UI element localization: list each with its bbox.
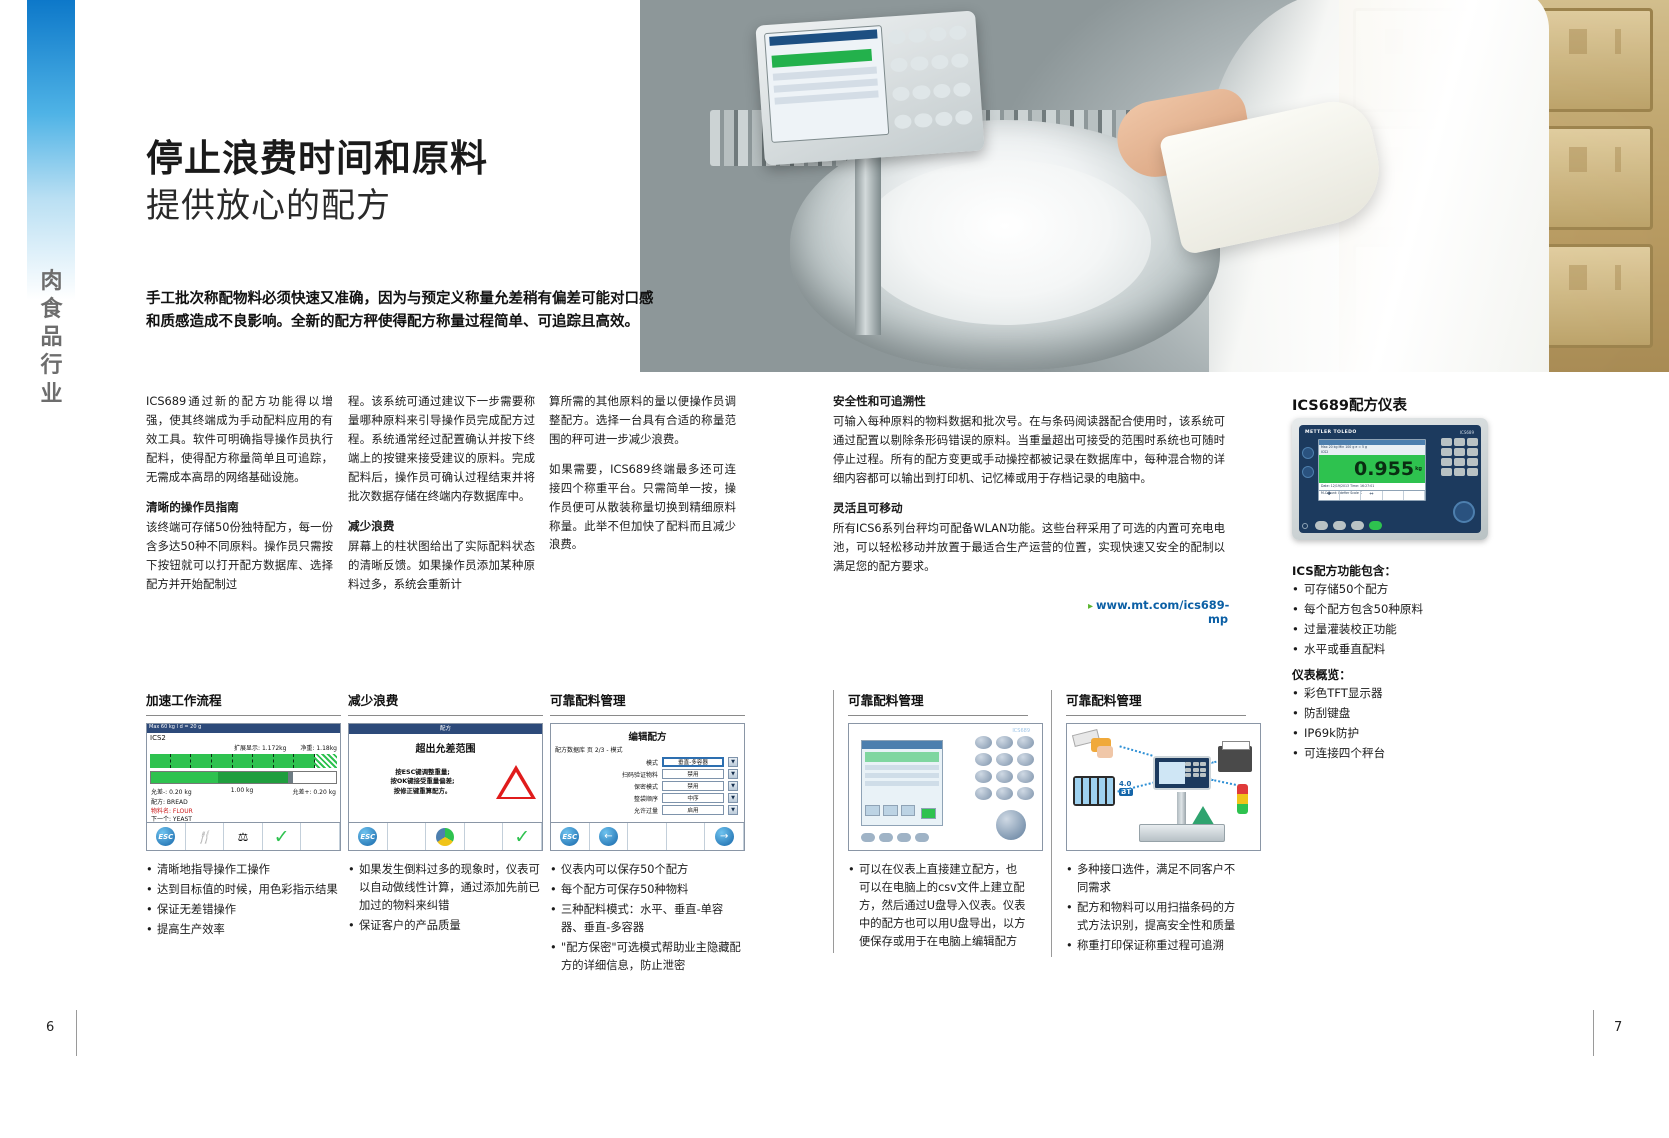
hero-terminal — [755, 10, 984, 165]
setting-label: 保密模式 — [606, 782, 658, 791]
tolerance-minus: 允差-: 0.20 kg — [151, 787, 192, 796]
numeric-keypad — [975, 736, 1034, 800]
ics689-device-photo: METTLER TOLEDO ICS689 Max 20 kg Min 100 … — [1292, 418, 1488, 540]
setting-label: 模式 — [606, 758, 658, 767]
device-model: ICS689 — [1460, 430, 1474, 435]
esc-key[interactable]: ESC — [147, 823, 186, 850]
bench-scale-platform — [1139, 824, 1225, 842]
page-subtitle: 提供放心的配方 — [146, 178, 391, 227]
esc-key[interactable]: ESC — [551, 823, 590, 850]
terminal-screenshot-tolerance-alert: 配方 超出允差范围 按ESC键调整重量; 按OK键接受重量偏差; 按修正键重算配… — [348, 723, 543, 851]
feature-title: 加速工作流程 — [146, 690, 341, 716]
feature-bullets: 可以在仪表上直接建立配方，也可以在电脑上的csv文件上建立配方，然后通过U盘导入… — [848, 861, 1028, 951]
col4-heading-2: 灵活且可移动 — [833, 499, 1225, 518]
list-item: 清晰地指导操作工操作 — [146, 861, 341, 879]
page-number-left: 6 — [46, 1020, 54, 1035]
setting-value[interactable]: 禁用 — [662, 781, 724, 791]
edit-recipe-title: 编辑配方 — [551, 724, 744, 743]
link-arrow-icon: ▸ — [1088, 601, 1093, 612]
tab-char-3: 行 — [34, 352, 70, 380]
edit-recipe-subtitle: 配方数据库 页 2/3 - 模式 — [551, 743, 744, 756]
blank-key[interactable] — [301, 823, 340, 850]
net-weight-label: 净重: 1.18kg — [300, 743, 337, 752]
next-page-icon[interactable]: → — [705, 823, 744, 850]
power-icon — [1302, 523, 1308, 529]
page-title: 停止浪费时间和原料 — [146, 128, 488, 182]
alert-message: 按ESC键调整重量; 按OK键接受重量偏差; 按修正键重算配方。 — [355, 768, 490, 797]
device-left-keys — [1302, 447, 1314, 478]
body-column-1: ICS689通过新的配方功能得以增强，使其终端成为手动配料应用的有效工具。软件可… — [146, 392, 333, 605]
hero-terminal-keypad — [888, 25, 973, 140]
device-brand: METTLER TOLEDO — [861, 728, 911, 734]
list-item: 如果发生倒料过多的现象时，仪表可以自动做线性计算，通过添加先前已加过的物料来纠错 — [348, 861, 543, 915]
device-brand: METTLER TOLEDO — [1305, 430, 1475, 435]
list-item: "配方保密"可选模式帮助业主隐藏配方的详细信息，防止泄密 — [550, 939, 745, 975]
device-weight-unit: kg — [1415, 467, 1422, 472]
device-model: ICS689 — [1012, 728, 1030, 734]
col4-paragraph-2: 所有ICS6系列台秤均可配备WLAN功能。这些台秤采用了可选的内置可充电电池，可… — [833, 519, 1225, 576]
feature-box-3: 可靠配料管理 编辑配方 配方数据库 页 2/3 - 模式 模式 垂直-多容器 ▼… — [550, 690, 745, 977]
list-item: 称重打印保证称重过程可追溯 — [1066, 937, 1246, 955]
fkey-blank-3 — [1404, 491, 1425, 500]
chevron-down-icon[interactable]: ▼ — [728, 769, 738, 779]
screen-softkey-bar: ESC ← → — [551, 822, 744, 850]
setting-value[interactable]: 中序 — [662, 793, 724, 803]
feature-box-4: 可靠配料管理 METTLER TOLEDO ICS689 可以在仪表上直接建立配… — [833, 690, 1028, 953]
barcode-scanner-icon — [1073, 730, 1119, 760]
warning-triangle-icon — [496, 765, 536, 799]
list-item: 每个配方可保存50种物料 — [550, 881, 745, 899]
setting-label: 扫码验证物料 — [606, 770, 658, 779]
tolerance-bar — [150, 771, 337, 784]
alert-title: 超出允差范围 — [349, 740, 542, 755]
feature-bullets: 仪表内可以保存50个配方 每个配方可保存50种物料 三种配料模式：水平、垂直-单… — [550, 861, 745, 975]
confirm-check-icon[interactable]: ✓ — [263, 823, 302, 850]
bowl-interior — [859, 160, 1151, 325]
screen-scale-id: ICS2 — [147, 733, 340, 743]
feature-title: 可靠配料管理 — [848, 690, 1028, 716]
col1-heading: 清晰的操作员指南 — [146, 498, 333, 517]
col2-paragraph-2: 屏幕上的柱状图给出了实际配料状态的清晰反馈。如果操作员添加某种原料过多，系统会重… — [348, 537, 535, 594]
col1-paragraph-2: 该终端可存储50份独特配方，每一份含多达50种不同原料。操作员只需按下按钮就可以… — [146, 518, 333, 594]
list-item: 防刮键盘 — [1292, 704, 1502, 724]
product-link[interactable]: ▸www.mt.com/ics689-mp — [1088, 598, 1228, 626]
setting-row-order[interactable]: 整袋顺序 中序 ▼ — [551, 792, 744, 804]
list-item: 水平或垂直配料 — [1292, 640, 1502, 660]
fkey-transfer-icon: ⇔ — [1361, 491, 1382, 500]
sidebar-overview-list: 彩色TFT显示器 防刮键盘 IP69k防护 可连接四个秤台 — [1292, 684, 1502, 764]
recalculate-pie-icon[interactable] — [426, 823, 465, 850]
terminal-screenshot-workflow: Max 60 kg I d = 20 g ICS2 扩展显示: 1.172kg … — [146, 723, 341, 851]
previous-page-icon[interactable]: ← — [590, 823, 629, 850]
col3-paragraph-2: 如果需要，ICS689终端最多还可连接四个称重平台。只需简单一按，操作员便可从散… — [549, 460, 736, 555]
tablet-icon — [1073, 776, 1115, 806]
blank-key-1[interactable] — [628, 823, 667, 850]
extended-display-label: 扩展显示: 1.172kg — [234, 743, 286, 752]
feature-bullets: 多种接口选件，满足不同客户不同需求 配方和物料可以用扫描条码的方式方法识别，提高… — [1066, 861, 1246, 955]
segmented-progress-bar — [150, 754, 337, 768]
softkey-row — [861, 833, 929, 842]
hero-photo — [640, 0, 1669, 372]
feature-box-5: 可靠配料管理 4.0BT 多种接口选件，满足不同客户不同需求 配方和物料可以用扫… — [1051, 690, 1246, 957]
list-item: IP69k防护 — [1292, 724, 1502, 744]
sidebar-overview-heading: 仪表概览： — [1292, 666, 1351, 683]
setting-value[interactable]: 禁用 — [662, 769, 724, 779]
section-tab-gradient — [27, 0, 75, 300]
lead-paragraph: 手工批次称配物料必须快速又准确，因为与预定义称量允差稍有偏差可能对口感和质感造成… — [146, 288, 656, 335]
feature-box-1: 加速工作流程 Max 60 kg I d = 20 g ICS2 扩展显示: 1… — [146, 690, 341, 941]
list-item: 保证无差错操作 — [146, 901, 341, 919]
screen-softkey-bar: ESC ✓ — [349, 822, 542, 850]
setting-label: 整袋顺序 — [606, 794, 658, 803]
list-item: 仪表内可以保存50个配方 — [550, 861, 745, 879]
device-keypad — [1441, 438, 1478, 476]
col4-heading-1: 安全性和可追溯性 — [833, 392, 1225, 411]
bench-terminal — [1153, 756, 1211, 790]
device-weight-value: 0.955 — [1354, 460, 1414, 479]
col2-paragraph-1: 程。该系统可通过建议下一步需要称量哪种原料来引导操作员完成配方过程。系统通常经过… — [348, 392, 535, 506]
terminal-photo-ics689: METTLER TOLEDO ICS689 — [848, 723, 1043, 851]
tab-char-4: 业 — [34, 381, 70, 409]
setting-row-overfill[interactable]: 允许过量 启用 ▼ — [551, 804, 744, 816]
terminal-display — [861, 740, 943, 826]
chevron-down-icon[interactable]: ▼ — [728, 805, 738, 815]
material-line: 物料名: FLOUR — [151, 808, 336, 817]
screen-header: Max 60 kg I d = 20 g — [147, 724, 340, 733]
list-item: 彩色TFT显示器 — [1292, 684, 1502, 704]
col4-paragraph-1: 可输入每种原料的物料数据和批次号。在与条码阅读器配合使用时，该系统可通过配置以剔… — [833, 412, 1225, 488]
device-weight-readout: 0.955kg — [1319, 455, 1425, 483]
sidebar-features-list: 可存储50个配方 每个配方包含50种原料 过量灌装校正功能 水平或垂直配料 — [1292, 580, 1502, 660]
connectivity-diagram: 4.0BT — [1066, 723, 1261, 851]
terminal-screenshot-edit-recipe: 编辑配方 配方数据库 页 2/3 - 模式 模式 垂直-多容器 ▼ 扫码验证物料… — [550, 723, 745, 851]
setting-value[interactable]: 启用 — [662, 805, 724, 815]
tab-char-1: 食 — [34, 296, 70, 324]
setting-label: 允许过量 — [606, 806, 658, 815]
tab-char-2: 品 — [34, 324, 70, 352]
connection-line-1 — [1119, 745, 1152, 756]
blank-key-2[interactable] — [667, 823, 706, 850]
device-screen: Max 20 kg Min 100 g e = 5 g ICS2 0.955kg… — [1318, 439, 1426, 501]
chevron-down-icon[interactable]: ▼ — [728, 757, 738, 767]
body-column-3: 算所需的其他原料的量以便操作员调整配方。选择一台具有合适的称量范围的秤可进一步减… — [549, 392, 736, 565]
screen-softkey-bar: ESC 🍴 ⚖ ✓ — [147, 822, 340, 850]
feature-bullets: 如果发生倒料过多的现象时，仪表可以自动做线性计算，通过添加先前已加过的物料来纠错… — [348, 861, 543, 935]
blank-key-1[interactable] — [388, 823, 427, 850]
recipe-line: 配方: BREAD — [151, 799, 336, 808]
list-item: 提高生产效率 — [146, 921, 341, 939]
col3-paragraph-1: 算所需的其他原料的量以便操作员调整配方。选择一台具有合适的称量范围的秤可进一步减… — [549, 392, 736, 449]
setting-row-mode[interactable]: 模式 垂直-多容器 ▼ — [551, 756, 744, 768]
tab-char-0: 肉 — [34, 268, 70, 296]
setting-row-barcode[interactable]: 扫码验证物料 禁用 ▼ — [551, 768, 744, 780]
tolerance-labels: 允差-: 0.20 kg 1.00 kg 允差+: 0.20 kg — [147, 787, 340, 796]
section-tab-label: 肉 食 品 行 业 — [34, 268, 70, 409]
containers-icon[interactable]: 🍴 — [186, 823, 225, 850]
feature-title: 减少浪费 — [348, 690, 543, 716]
navigation-pad — [996, 810, 1026, 840]
fkey-blank-2 — [1383, 491, 1404, 500]
feature-title: 可靠配料管理 — [550, 690, 745, 716]
chevron-down-icon[interactable]: ▼ — [728, 781, 738, 791]
terminal-stand — [855, 155, 881, 335]
hero-terminal-screen — [764, 25, 889, 143]
device-datetime: Date: 12/19/2013 Time: 16:27:01 — [1319, 483, 1425, 490]
list-item: 保证客户的产品质量 — [348, 917, 543, 935]
list-item: 配方和物料可以用扫描条码的方式方法识别，提高安全性和质量 — [1066, 899, 1246, 935]
setting-value[interactable]: 垂直-多容器 — [662, 757, 724, 767]
link-text: www.mt.com/ics689-mp — [1096, 598, 1229, 626]
target-value: 1.00 kg — [231, 787, 254, 796]
printer-icon — [1218, 746, 1252, 772]
list-item: 可连接四个秤台 — [1292, 744, 1502, 764]
footer-tick-right — [1593, 1010, 1594, 1056]
body-column-4: 安全性和可追溯性 可输入每种原料的物料数据和批次号。在与条码阅读器配合使用时，该… — [833, 392, 1225, 587]
signal-tower-icon — [1237, 784, 1248, 814]
list-item: 多种接口选件，满足不同客户不同需求 — [1066, 861, 1246, 897]
sidebar-title: ICS689配方仪表 — [1292, 394, 1407, 415]
page-number-right: 7 — [1614, 1020, 1622, 1035]
brochure-spread: 肉 食 品 行 业 — [0, 0, 1669, 1138]
col2-heading: 减少浪费 — [348, 517, 535, 536]
setting-row-privacy[interactable]: 保密模式 禁用 ▼ — [551, 780, 744, 792]
list-item: 达到目标值的时候，用色彩指示结果 — [146, 881, 341, 899]
feature-box-2: 减少浪费 配方 超出允差范围 按ESC键调整重量; 按OK键接受重量偏差; 按修… — [348, 690, 543, 937]
balance-icon[interactable]: ⚖ — [224, 823, 263, 850]
terminal-pole — [1177, 792, 1186, 826]
list-item: 可存储50个配方 — [1292, 580, 1502, 600]
feature-bullets: 清晰地指导操作工操作 达到目标值的时候，用色彩指示结果 保证无差错操作 提高生产… — [146, 861, 341, 939]
chevron-down-icon[interactable]: ▼ — [728, 793, 738, 803]
tolerance-plus: 允差+: 0.20 kg — [292, 787, 336, 796]
footer-tick-left — [76, 1010, 77, 1056]
screen-header: 配方 — [349, 724, 542, 734]
blank-key-2[interactable] — [465, 823, 504, 850]
list-item: 三种配料模式：水平、垂直-单容器、垂直-多容器 — [550, 901, 745, 937]
device-softkeys — [1315, 521, 1382, 530]
body-column-2: 程。该系统可通过建议下一步需要称量哪种原料来引导操作员完成配方过程。系统通常经过… — [348, 392, 535, 605]
device-navigation-pad — [1453, 501, 1475, 523]
esc-key[interactable]: ESC — [349, 823, 388, 850]
list-item: 可以在仪表上直接建立配方，也可以在电脑上的csv文件上建立配方，然后通过U盘导入… — [848, 861, 1028, 951]
list-item: 过量灌装校正功能 — [1292, 620, 1502, 640]
col1-paragraph-1: ICS689通过新的配方功能得以增强，使其终端成为手动配料应用的有效工具。软件可… — [146, 392, 333, 487]
fkey-blank-1 — [1340, 491, 1361, 500]
feature-title: 可靠配料管理 — [1066, 690, 1246, 716]
fkey-move-icon: ✥ — [1319, 491, 1340, 500]
device-function-keys: ✥⇔ — [1319, 490, 1425, 500]
sidebar-features-heading: ICS配方功能包含： — [1292, 562, 1396, 579]
confirm-check-icon[interactable]: ✓ — [503, 823, 542, 850]
screen-weight-labels: 扩展显示: 1.172kg 净重: 1.18kg — [147, 743, 340, 752]
list-item: 每个配方包含50种原料 — [1292, 600, 1502, 620]
